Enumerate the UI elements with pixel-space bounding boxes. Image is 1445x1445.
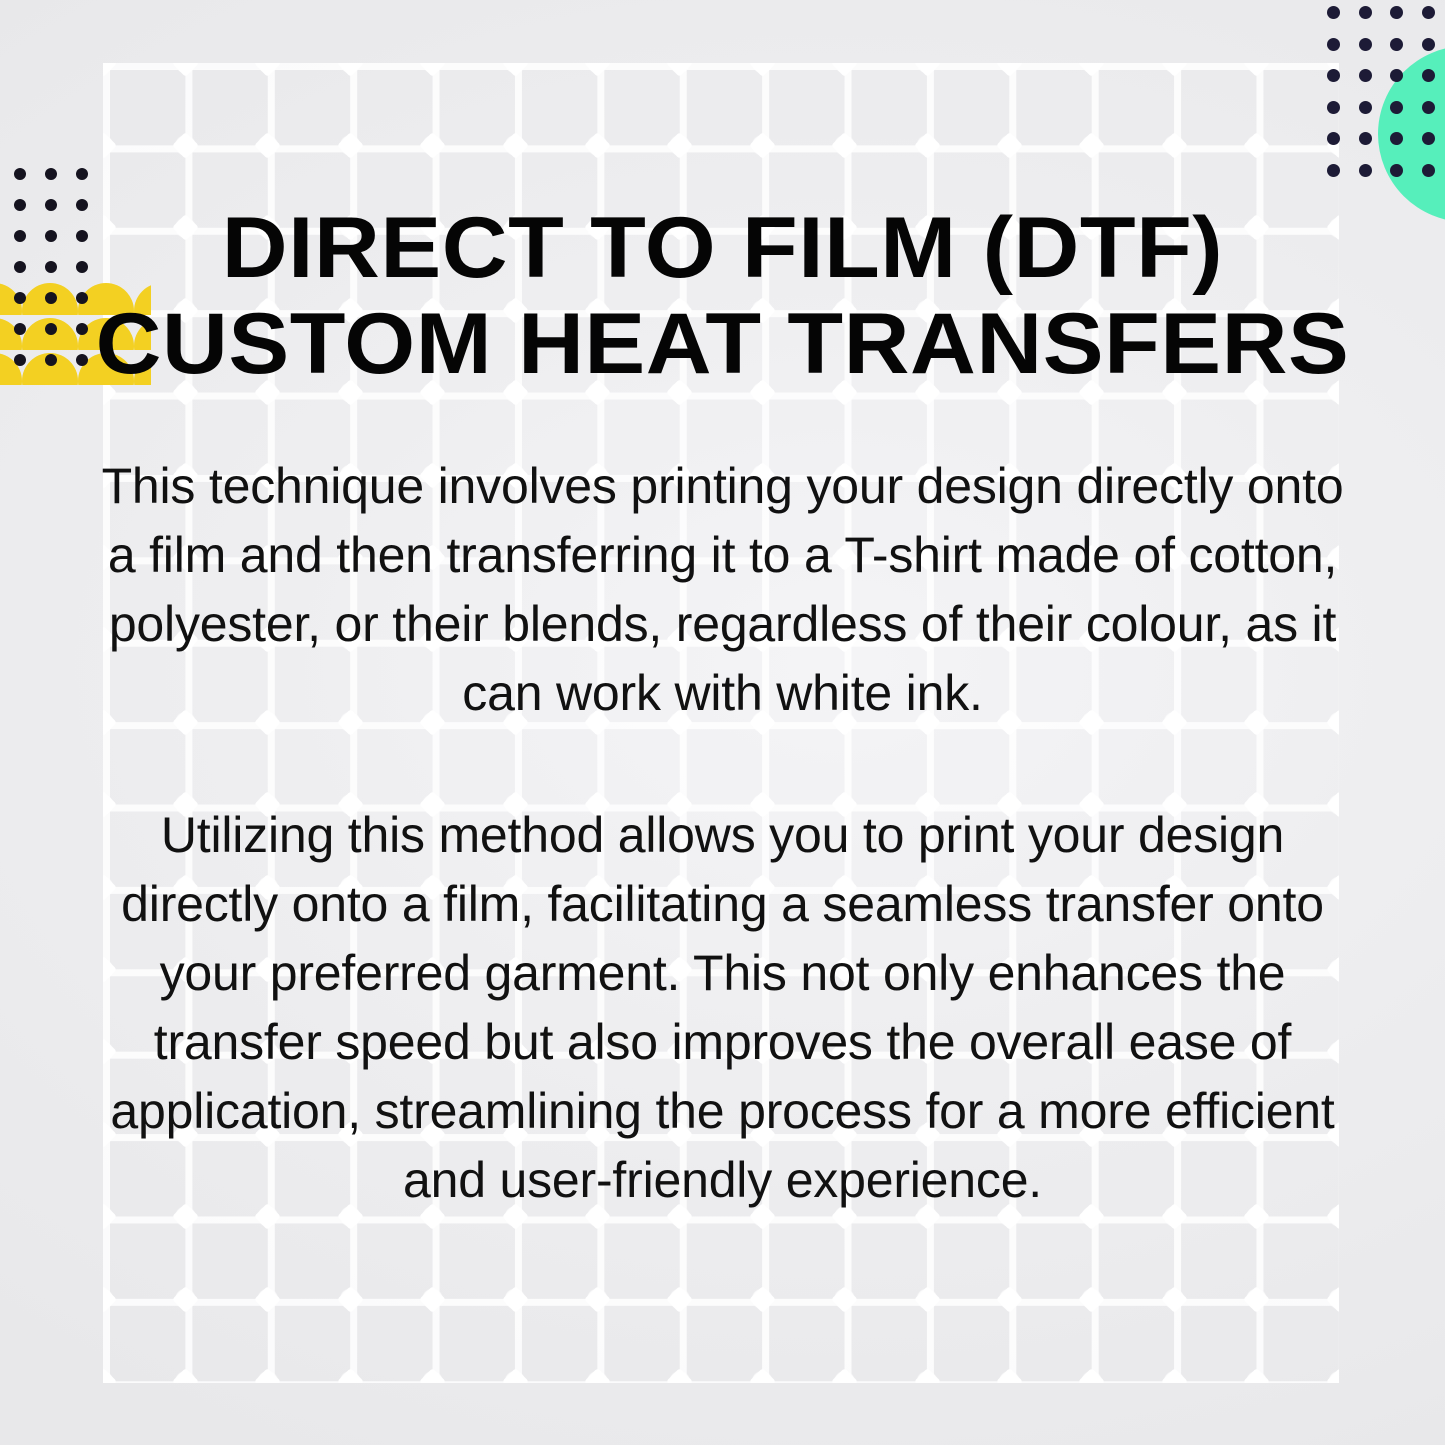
body-copy: This technique involves printing your de… [96,452,1349,1215]
page-title: DIRECT TO FILM (DTF) CUSTOM HEAT TRANSFE… [0,200,1445,392]
paragraph-2: Utilizing this method allows you to prin… [96,801,1349,1215]
title-line-2: CUSTOM HEAT TRANSFERS [0,296,1445,392]
poster-canvas: DIRECT TO FILM (DTF) CUSTOM HEAT TRANSFE… [0,0,1445,1445]
poster-content: DIRECT TO FILM (DTF) CUSTOM HEAT TRANSFE… [0,0,1445,1445]
title-line-1: DIRECT TO FILM (DTF) [0,200,1445,296]
paragraph-1: This technique involves printing your de… [96,452,1349,728]
